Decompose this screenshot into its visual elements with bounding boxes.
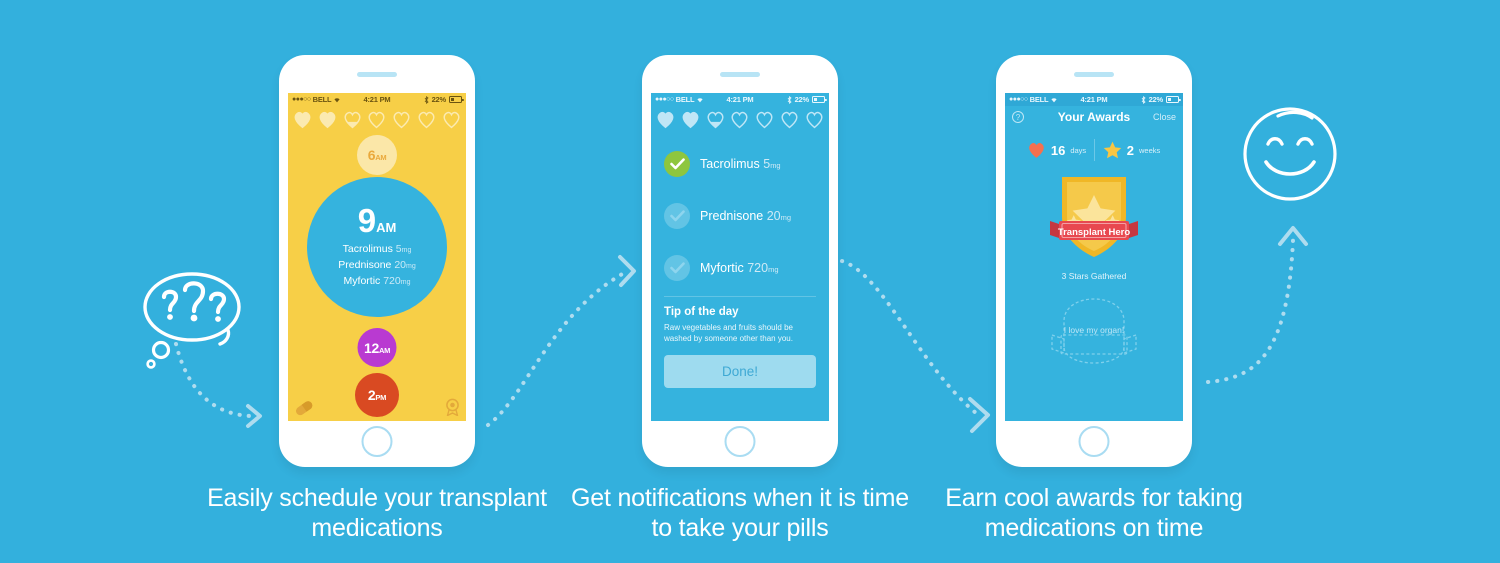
tip-title: Tip of the day [664, 306, 816, 318]
badge-ribbon-label: Transplant Hero [1005, 227, 1183, 238]
dotted-arrow-down-right [836, 253, 1002, 438]
battery-icon [1166, 96, 1179, 103]
phone-speaker [1074, 72, 1114, 77]
streak-days-value: 16 [1051, 143, 1065, 158]
heart-icon-empty [730, 110, 749, 129]
check-icon [670, 210, 685, 222]
dose-bubble-9am[interactable]: 9AM Tacrolimus 5mg Prednisone 20mg Myfor… [307, 177, 447, 317]
heart-icon-empty [755, 110, 774, 129]
caption-awards: Earn cool awards for taking medications … [924, 483, 1264, 543]
tip-of-the-day: Tip of the day Raw vegetables and fruits… [651, 297, 829, 344]
close-button[interactable]: Close [1153, 112, 1176, 122]
list-item[interactable]: Prednisone 20mg [664, 190, 829, 242]
battery-label: 22% [432, 95, 446, 104]
check-icon [670, 158, 685, 170]
heart-icon [1027, 141, 1046, 159]
battery-label: 22% [795, 95, 809, 104]
badge-subtitle: 3 Stars Gathered [1005, 271, 1183, 281]
caption-notifications: Get notifications when it is time to tak… [570, 483, 910, 543]
dose-period-6: AM [375, 153, 386, 162]
status-bar: ●●●○○ BELL 4:21 PM 22% [1005, 93, 1183, 106]
status-bar: ●●●○○ BELL 4:21 PM 22% [288, 93, 466, 106]
heart-icon-half [706, 110, 725, 129]
award-ribbon-icon[interactable] [445, 398, 460, 416]
dotted-arrow-up-right [478, 245, 644, 430]
locked-badge-label: I love my organ! [1064, 325, 1124, 335]
heart-icon-full [681, 110, 700, 129]
med-label: Prednisone 20mg [700, 209, 791, 223]
heart-icon-empty [392, 110, 411, 129]
dose-bubble-6am[interactable]: 6AM [357, 135, 397, 175]
battery-label: 22% [1149, 95, 1163, 104]
med-line: Myfortic 720mg [344, 274, 411, 290]
bluetooth-icon [787, 96, 792, 104]
tip-body: Raw vegetables and fruits should be wash… [664, 322, 816, 344]
phone-speaker [720, 72, 760, 77]
pill-icon[interactable] [294, 400, 314, 416]
heart-icon-full [293, 110, 312, 129]
badge-transplant-hero[interactable]: Transplant Hero [1005, 171, 1183, 263]
streak-days: 16 days [1020, 141, 1094, 159]
home-button[interactable] [362, 426, 393, 457]
heart-icon-half [343, 110, 362, 129]
home-button[interactable] [725, 426, 756, 457]
battery-icon [449, 96, 462, 103]
heart-progress-row [651, 106, 829, 129]
med-label: Tacrolimus 5mg [700, 157, 781, 171]
phone-schedule: ●●●○○ BELL 4:21 PM 22% [279, 55, 475, 467]
check-icon [670, 262, 685, 274]
schedule-screen: ●●●○○ BELL 4:21 PM 22% [288, 93, 466, 421]
dose-bubble-12am[interactable]: 12AM [358, 328, 397, 367]
star-icon [1103, 141, 1122, 159]
status-bar: ●●●○○ BELL 4:21 PM 22% [651, 93, 829, 106]
heart-icon-full [656, 110, 675, 129]
heart-progress-row [288, 106, 466, 129]
dotted-arrow-right [170, 340, 270, 430]
phone-speaker [357, 72, 397, 77]
heart-icon-empty [367, 110, 386, 129]
locked-badge[interactable]: I love my organ! [1005, 297, 1183, 367]
list-item[interactable]: Myfortic 720mg [664, 242, 829, 294]
caption-schedule: Easily schedule your transplant medicati… [207, 483, 547, 543]
smiley-face-icon [1238, 104, 1342, 204]
streak-weeks: 2 weeks [1095, 141, 1169, 159]
heart-icon-empty [780, 110, 799, 129]
streak-stats: 16 days 2 weeks [1005, 128, 1183, 161]
awards-screen: ●●●○○ BELL 4:21 PM 22% ? Your Awards Clo… [1005, 93, 1183, 421]
dose-period-9: AM [376, 220, 396, 235]
dotted-arrow-up [1200, 210, 1310, 385]
med-label: Myfortic 720mg [700, 261, 779, 275]
med-line: Prednisone 20mg [338, 258, 415, 274]
heart-icon-empty [417, 110, 436, 129]
nav-bar: ? Your Awards Close [1005, 106, 1183, 128]
shield-star-icon [1046, 171, 1142, 263]
dose-time-9: 9 [358, 202, 376, 239]
checkbox-unchecked[interactable] [664, 255, 690, 281]
heart-icon-empty [805, 110, 824, 129]
heart-icon-empty [442, 110, 461, 129]
list-item[interactable]: Tacrolimus 5mg [664, 138, 829, 190]
checkbox-checked[interactable] [664, 151, 690, 177]
streak-weeks-value: 2 [1127, 143, 1134, 158]
infographic-canvas: ●●●○○ BELL 4:21 PM 22% [0, 0, 1500, 563]
medication-list: Tacrolimus 5mg Prednisone 20mg [651, 129, 829, 294]
home-button[interactable] [1079, 426, 1110, 457]
heart-icon-full [318, 110, 337, 129]
med-line: Tacrolimus 5mg [343, 242, 412, 258]
battery-icon [812, 96, 825, 103]
bluetooth-icon [424, 96, 429, 104]
phone-awards: ●●●○○ BELL 4:21 PM 22% ? Your Awards Clo… [996, 55, 1192, 467]
checkbox-unchecked[interactable] [664, 203, 690, 229]
bluetooth-icon [1141, 96, 1146, 104]
streak-days-unit: days [1070, 146, 1086, 155]
dose-bubble-2pm[interactable]: 2PM [355, 373, 399, 417]
phone-notifications: ●●●○○ BELL 4:21 PM 22% [642, 55, 838, 467]
done-button[interactable]: Done! [664, 355, 816, 388]
streak-weeks-unit: weeks [1139, 146, 1160, 155]
notifications-screen: ●●●○○ BELL 4:21 PM 22% [651, 93, 829, 421]
